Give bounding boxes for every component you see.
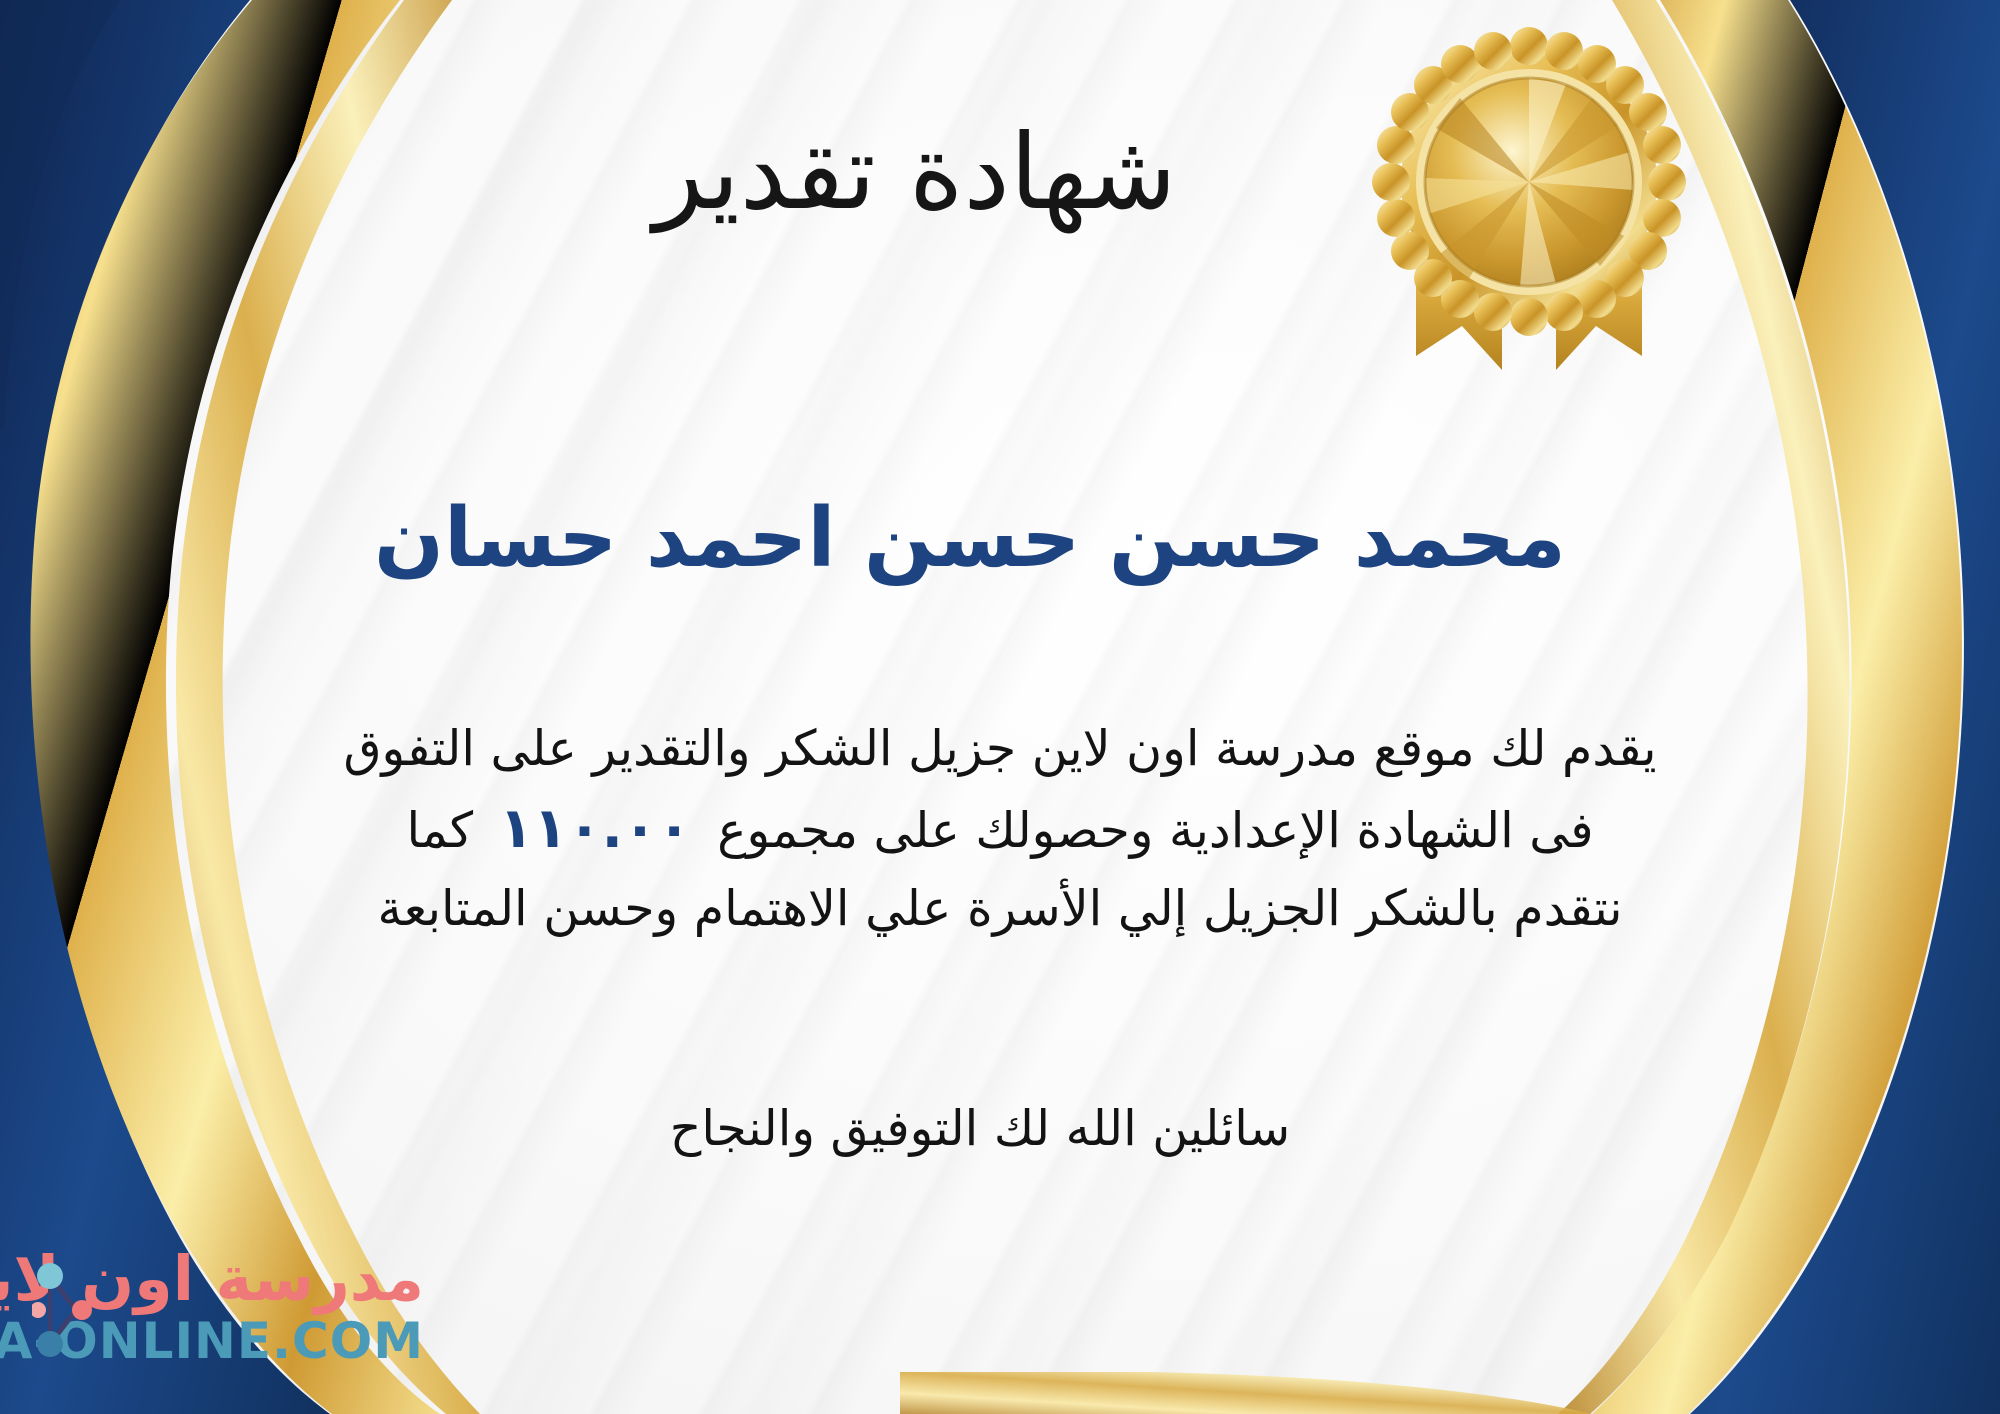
grade-value: ١١٠.٠٠ (473, 786, 717, 871)
certificate-canvas: شهادة تقدير محمد حسن حسن احمد حسان يقدم … (0, 0, 2000, 1414)
certificate-title: شهادة تقدير (0, 118, 2000, 227)
body-line-3: نتقدم بالشكر الجزيل إلي الأسرة علي الاهت… (60, 872, 1940, 946)
body-line-2-text-after: كما (406, 802, 473, 859)
closing-line: سائلين الله لك التوفيق والنجاح (0, 1100, 2000, 1157)
body-line-2-text-before: فى الشهادة الإعدادية وحصولك على مجموع (717, 802, 1593, 859)
body-line-2: فى الشهادة الإعدادية وحصولك على مجموع١١٠… (60, 786, 1940, 871)
site-logo[interactable]: مدرسة اون لاين MADRSA-ONLINE.COM (26, 1238, 496, 1388)
student-name: محمد حسن حسن احمد حسان (0, 492, 2000, 586)
certificate-body: يقدم لك موقع مدرسة اون لاين جزيل الشكر و… (60, 712, 1940, 946)
network-nodes-logo-mark-icon (32, 1248, 96, 1368)
body-line-1: يقدم لك موقع مدرسة اون لاين جزيل الشكر و… (60, 712, 1940, 786)
